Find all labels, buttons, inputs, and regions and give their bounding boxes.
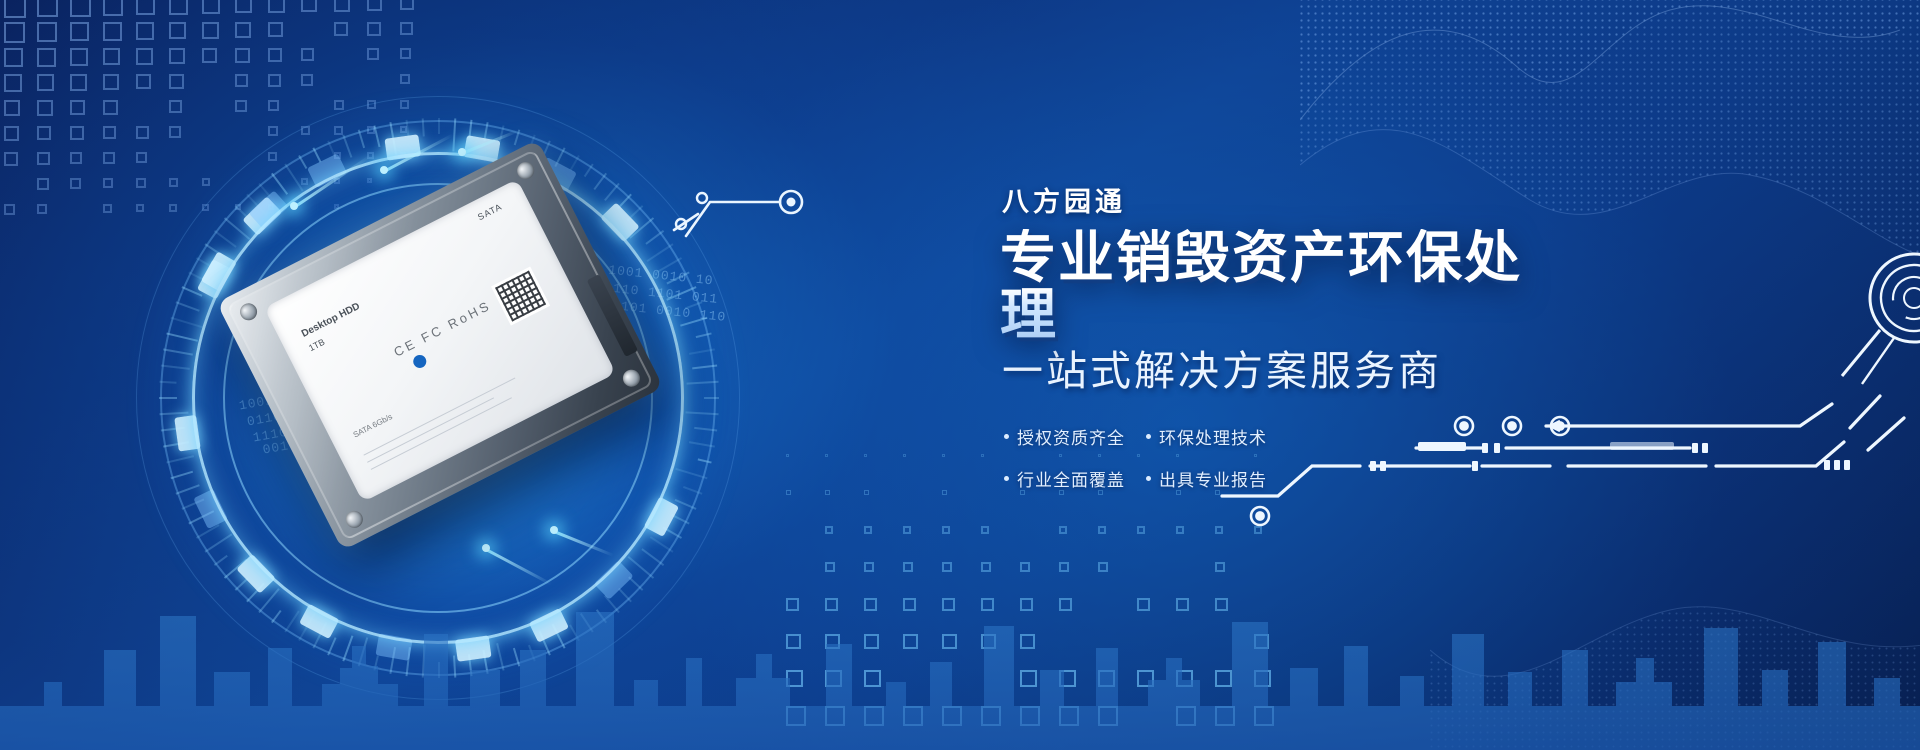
hdd-label-sata: SATA bbox=[476, 201, 504, 222]
matrix-square bbox=[334, 0, 350, 12]
hero-copy: 八方园通 专业销毁资产环保处理 一站式解决方案服务商 授权资质齐全 环保处理技术… bbox=[1000, 180, 1560, 508]
matrix-square bbox=[235, 0, 252, 13]
matrix-square bbox=[268, 0, 285, 13]
bullet-dot-icon bbox=[1004, 434, 1009, 439]
matrix-square bbox=[169, 22, 186, 39]
matrix-square bbox=[301, 48, 314, 61]
matrix-square bbox=[268, 22, 283, 37]
feature-label: 授权资质齐全 bbox=[1017, 424, 1125, 449]
matrix-square bbox=[4, 74, 22, 92]
matrix-square bbox=[136, 22, 154, 40]
matrix-square bbox=[202, 0, 220, 14]
spark-node-1 bbox=[290, 202, 298, 210]
hdd-label-certs: CE FC RoHS bbox=[391, 298, 493, 360]
matrix-square bbox=[786, 490, 791, 495]
matrix-square bbox=[4, 126, 19, 141]
matrix-square bbox=[103, 100, 118, 115]
spark-node-2 bbox=[380, 166, 388, 174]
hdd-qr-code bbox=[491, 266, 550, 325]
matrix-square bbox=[4, 22, 25, 43]
matrix-square bbox=[400, 0, 414, 10]
hdd-label-capacity: 1TB bbox=[307, 337, 326, 353]
matrix-square bbox=[37, 178, 49, 190]
matrix-square bbox=[70, 48, 88, 66]
matrix-square bbox=[37, 74, 54, 91]
matrix-square bbox=[103, 204, 112, 213]
matrix-square bbox=[4, 0, 26, 18]
connector-line bbox=[672, 178, 832, 238]
page-title: 专业销毁资产环保处理 bbox=[1000, 229, 1560, 343]
matrix-square bbox=[235, 48, 250, 63]
hero-banner: 1001 0010 1001 1001 0110 1011 0010 1101 … bbox=[0, 0, 1920, 750]
matrix-square bbox=[301, 0, 317, 12]
matrix-square bbox=[367, 48, 379, 60]
matrix-square bbox=[103, 126, 116, 139]
matrix-square bbox=[4, 152, 18, 166]
matrix-square bbox=[103, 48, 120, 65]
matrix-square bbox=[942, 490, 947, 495]
matrix-square bbox=[103, 152, 115, 164]
feature-item: 出具专业报告 bbox=[1146, 466, 1301, 491]
matrix-square bbox=[103, 178, 113, 188]
matrix-square bbox=[4, 48, 23, 67]
matrix-square bbox=[235, 22, 251, 38]
matrix-square bbox=[864, 454, 867, 457]
matrix-square bbox=[400, 22, 413, 35]
matrix-square bbox=[169, 0, 188, 15]
matrix-square bbox=[70, 126, 84, 140]
matrix-square bbox=[825, 454, 828, 457]
hdd-label-interface: SATA 6Gb/s bbox=[352, 412, 394, 439]
matrix-square bbox=[4, 100, 20, 116]
matrix-square bbox=[786, 454, 789, 457]
feature-label: 环保处理技术 bbox=[1159, 424, 1267, 449]
bullet-dot-icon bbox=[1146, 476, 1151, 481]
spark-node-3 bbox=[458, 148, 466, 156]
matrix-square bbox=[70, 178, 81, 189]
matrix-square bbox=[942, 454, 945, 457]
brand-name: 八方园通 bbox=[1002, 180, 1560, 219]
matrix-square bbox=[37, 0, 58, 17]
feature-item: 行业全面覆盖 bbox=[1004, 466, 1146, 491]
bullet-dot-icon bbox=[1146, 434, 1151, 439]
hdd-label-dot bbox=[411, 353, 428, 370]
matrix-square bbox=[136, 0, 155, 15]
matrix-square bbox=[70, 74, 87, 91]
feature-item: 授权资质齐全 bbox=[1004, 424, 1146, 449]
matrix-square bbox=[202, 48, 217, 63]
matrix-square bbox=[334, 22, 348, 36]
matrix-square bbox=[37, 48, 56, 67]
matrix-square bbox=[268, 48, 282, 62]
page-subtitle: 一站式解决方案服务商 bbox=[1002, 349, 1560, 394]
hdd-label-model: Desktop HDD bbox=[300, 301, 362, 340]
matrix-square bbox=[37, 22, 57, 42]
feature-list: 授权资质齐全 环保处理技术 行业全面覆盖 出具专业报告 bbox=[1004, 424, 1314, 508]
matrix-square bbox=[37, 204, 47, 214]
matrix-square bbox=[367, 22, 381, 36]
matrix-square bbox=[103, 74, 119, 90]
feature-item: 环保处理技术 bbox=[1146, 424, 1301, 449]
matrix-square bbox=[367, 0, 382, 11]
matrix-square bbox=[903, 454, 906, 457]
matrix-square bbox=[136, 48, 153, 65]
matrix-square bbox=[70, 22, 89, 41]
matrix-square bbox=[37, 152, 50, 165]
matrix-square bbox=[37, 126, 51, 140]
matrix-square bbox=[103, 0, 123, 16]
feature-label: 出具专业报告 bbox=[1159, 466, 1267, 491]
matrix-square bbox=[4, 204, 15, 215]
matrix-square bbox=[981, 454, 984, 457]
matrix-square bbox=[169, 48, 185, 64]
matrix-square bbox=[70, 0, 91, 17]
matrix-square bbox=[70, 152, 82, 164]
matrix-square bbox=[400, 48, 411, 59]
matrix-square bbox=[864, 490, 869, 495]
matrix-square bbox=[70, 100, 85, 115]
bullet-dot-icon bbox=[1004, 476, 1009, 481]
matrix-square bbox=[103, 22, 122, 41]
matrix-square bbox=[202, 22, 219, 39]
matrix-square bbox=[825, 490, 830, 495]
circuit-ring-far-right bbox=[1818, 236, 1920, 386]
feature-label: 行业全面覆盖 bbox=[1017, 466, 1125, 491]
matrix-square bbox=[37, 100, 53, 116]
city-skyline-silhouette bbox=[0, 530, 1920, 750]
